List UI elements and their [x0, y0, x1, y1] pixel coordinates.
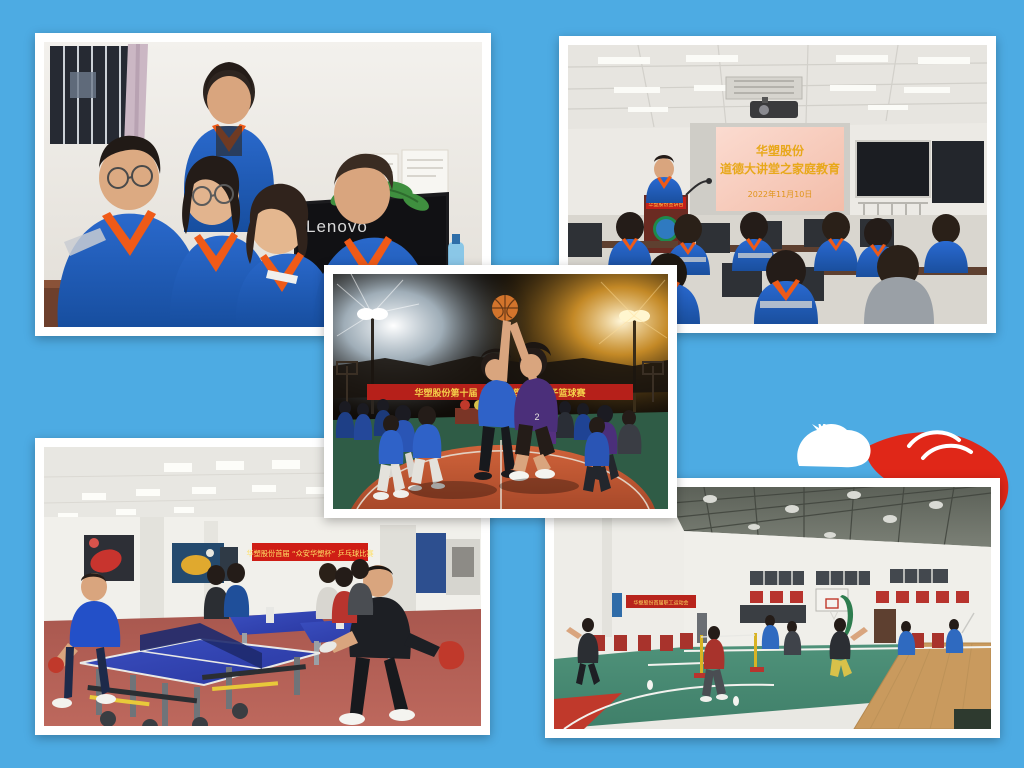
svg-text:华塑股份: 华塑股份	[756, 143, 805, 158]
svg-text:2022年11月10日: 2022年11月10日	[748, 189, 813, 199]
collage-canvas: Lenovo	[0, 0, 1024, 768]
white-arc-marks	[905, 424, 1010, 464]
photo-gymnasium-image: 华塑股份首届职工运动会	[554, 487, 991, 729]
svg-text:道德大讲堂之家庭教育: 道德大讲堂之家庭教育	[720, 161, 840, 176]
photo-basketball-night-image: 华塑股份第十届 “众安华塑杯” 男子篮球赛	[333, 274, 668, 509]
svg-text:华塑股份首届 “众安华塑杯” 乒乓球比赛: 华塑股份首届 “众安华塑杯” 乒乓球比赛	[246, 549, 373, 558]
svg-text:华塑股份首届职工运动会: 华塑股份首届职工运动会	[633, 600, 688, 607]
photo-basketball-night[interactable]: 华塑股份第十届 “众安华塑杯” 男子篮球赛	[324, 265, 677, 518]
svg-text:2: 2	[534, 412, 539, 422]
white-cloud-shape	[795, 424, 875, 468]
